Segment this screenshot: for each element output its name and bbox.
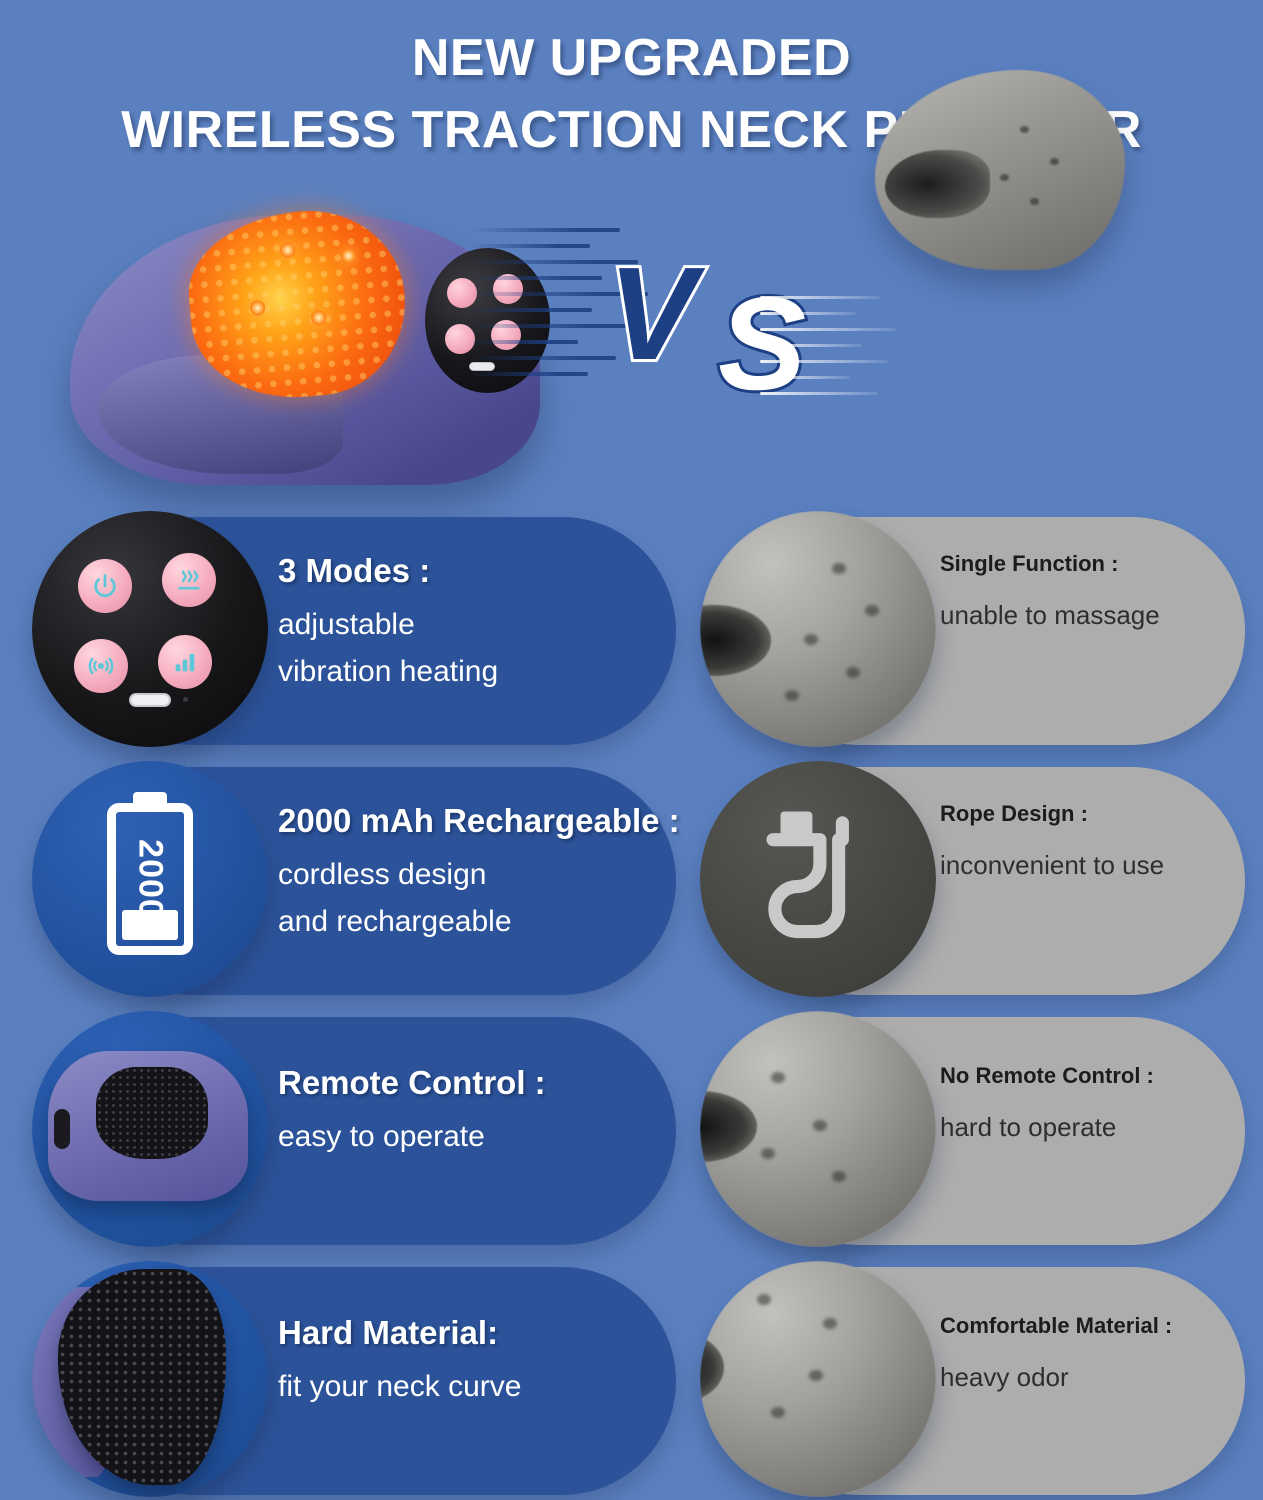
- battery-icon: 2000: [32, 761, 268, 997]
- heat-button-icon[interactable]: [162, 553, 216, 607]
- comparison-row: Remote Control : easy to operate No Remo…: [0, 1005, 1263, 1255]
- battery-shape: 2000: [107, 803, 193, 955]
- drawback-text-right: Comfortable Material : heavy odor: [940, 1313, 1240, 1397]
- competitor-shape: [875, 70, 1125, 270]
- feature-text-left: 3 Modes : adjustable vibration heating: [278, 551, 678, 694]
- feature-heading: 3 Modes :: [278, 551, 678, 591]
- feature-subtext-line1: fit your neck curve: [278, 1365, 678, 1409]
- comparison-rows: 3 Modes : adjustable vibration heating S…: [0, 505, 1263, 1500]
- pillow-shape: [48, 1051, 248, 1201]
- comparison-row: 2000 2000 mAh Rechargeable : cordless de…: [0, 755, 1263, 1005]
- feature-subtext: adjustable vibration heating: [278, 603, 678, 694]
- drawback-subtext: hard to operate: [940, 1109, 1240, 1147]
- competitor-photo: [700, 1011, 936, 1247]
- feature-text-left: Remote Control : easy to operate: [278, 1063, 678, 1158]
- feature-text-left: Hard Material: fit your neck curve: [278, 1313, 678, 1408]
- feature-heading: Hard Material:: [278, 1313, 678, 1353]
- control-pad-icon: [32, 511, 268, 747]
- feature-subtext: easy to operate: [278, 1115, 678, 1159]
- heat-node-icon: [279, 242, 295, 258]
- mesh-material-photo: [32, 1261, 268, 1497]
- heating-mesh-panel: [182, 203, 412, 406]
- feature-text-left: 2000 mAh Rechargeable : cordless design …: [278, 801, 678, 944]
- honeycomb-mesh-texture: [182, 203, 412, 406]
- drawback-text-right: No Remote Control : hard to operate: [940, 1063, 1240, 1147]
- drawback-heading: Single Function :: [940, 551, 1240, 577]
- led-indicator-icon: [183, 697, 188, 702]
- comparison-row: Hard Material: fit your neck curve Comfo…: [0, 1255, 1263, 1500]
- feature-subtext: cordless design and rechargeable: [278, 853, 678, 944]
- competitor-hero-image: [875, 70, 1125, 270]
- feature-subtext-line1: cordless design: [278, 853, 678, 897]
- surface-dot-icon: [1020, 126, 1029, 133]
- surface-dot-icon: [1030, 198, 1039, 205]
- comparison-row: 3 Modes : adjustable vibration heating S…: [0, 505, 1263, 755]
- vibration-button-icon[interactable]: [74, 639, 128, 693]
- feature-subtext-line1: adjustable: [278, 603, 678, 647]
- feature-subtext-line2: and rechargeable: [278, 900, 678, 944]
- competitor-photo: [700, 511, 936, 747]
- feature-subtext: fit your neck curve: [278, 1365, 678, 1409]
- battery-capacity-label: 2000: [131, 839, 170, 919]
- usb-cable-icon: [700, 761, 936, 997]
- competitor-photo: [700, 1261, 936, 1497]
- usb-c-port-icon: [129, 693, 171, 707]
- side-button-icon: [54, 1109, 70, 1149]
- drawback-subtext: unable to massage: [940, 597, 1240, 635]
- drawback-subtext: inconvenient to use: [940, 847, 1240, 885]
- drawback-heading: Rope Design :: [940, 801, 1240, 827]
- pillow-front-photo: [32, 1011, 268, 1247]
- speed-lines-right: [760, 290, 910, 410]
- feature-heading: 2000 mAh Rechargeable :: [278, 801, 678, 841]
- mesh-panel: [96, 1067, 208, 1159]
- intensity-button-icon[interactable]: [158, 635, 212, 689]
- drawback-heading: No Remote Control :: [940, 1063, 1240, 1089]
- power-button-icon[interactable]: [78, 559, 132, 613]
- drawback-heading: Comfortable Material :: [940, 1313, 1240, 1339]
- surface-dot-icon: [1000, 174, 1009, 181]
- drawback-text-right: Rope Design : inconvenient to use: [940, 801, 1240, 885]
- drawback-text-right: Single Function : unable to massage: [940, 551, 1240, 635]
- surface-dot-icon: [1050, 158, 1059, 165]
- feature-subtext-line1: easy to operate: [278, 1115, 678, 1159]
- drawback-subtext: heavy odor: [940, 1359, 1240, 1397]
- feature-heading: Remote Control :: [278, 1063, 678, 1103]
- vs-letter-v: V: [608, 248, 690, 380]
- feature-subtext-line2: vibration heating: [278, 650, 678, 694]
